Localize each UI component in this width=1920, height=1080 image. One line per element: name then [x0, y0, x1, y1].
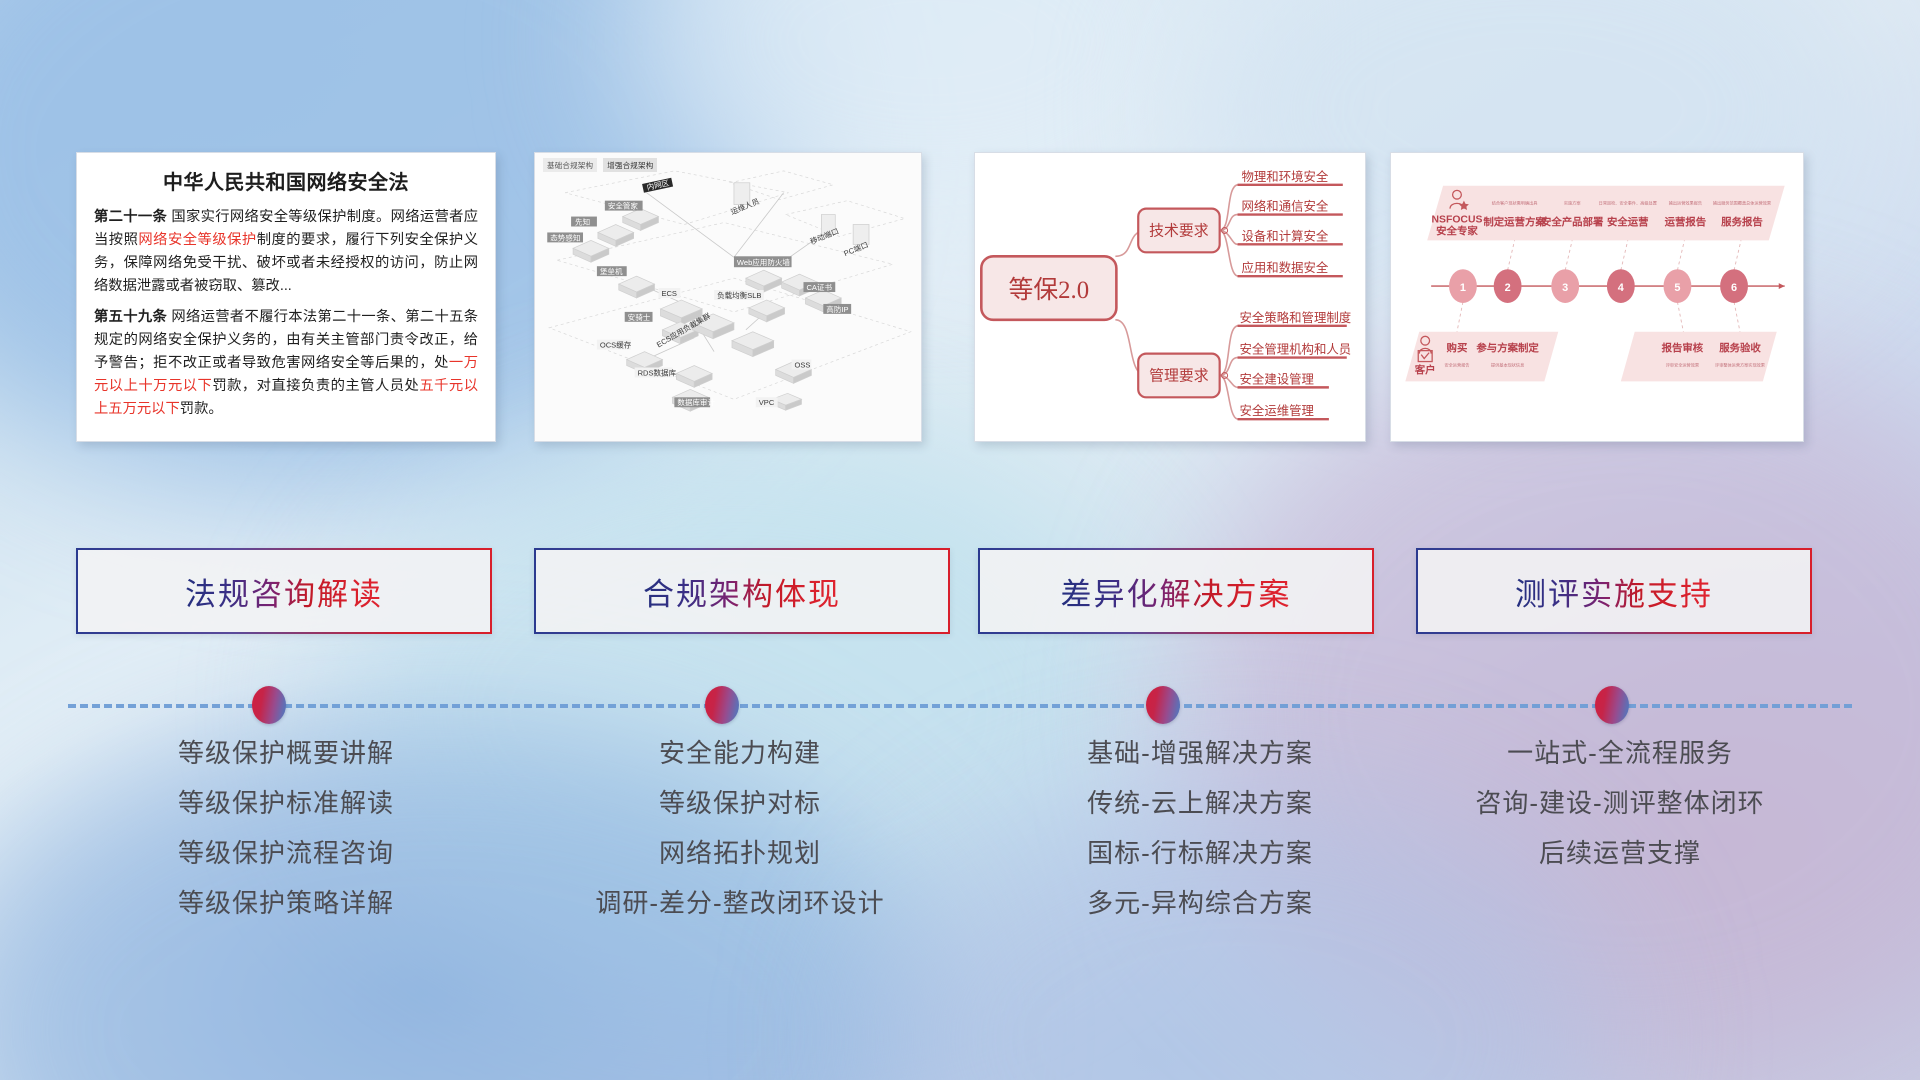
headline-box-2[interactable]: 合规架构体现 — [534, 548, 950, 634]
headline-box-4[interactable]: 测评实施支持 — [1416, 548, 1812, 634]
detail-column-4: 一站式-全流程服务 咨询-建设-测评整体闭环 后续运营支撑 — [1410, 740, 1830, 890]
list-item: 等级保护流程咨询 — [76, 840, 496, 866]
detail-column-2: 安全能力构建 等级保护对标 网络拓扑规划 调研-差分-整改闭环设计 — [520, 740, 960, 940]
list-item: 等级保护标准解读 — [76, 790, 496, 816]
headline-label: 合规架构体现 — [643, 569, 841, 614]
detail-lists: 等级保护概要讲解 等级保护标准解读 等级保护流程咨询 等级保护策略详解 安全能力… — [0, 740, 1920, 1040]
timeline-dot-4[interactable] — [1595, 686, 1629, 724]
headline-label: 差异化解决方案 — [1061, 569, 1292, 614]
list-item: 等级保护策略详解 — [76, 890, 496, 916]
list-item: 等级保护对标 — [520, 790, 960, 816]
headline-label: 测评实施支持 — [1515, 569, 1713, 614]
detail-column-1: 等级保护概要讲解 等级保护标准解读 等级保护流程咨询 等级保护策略详解 — [76, 740, 496, 940]
detail-column-3: 基础-增强解决方案 传统-云上解决方案 国标-行标解决方案 多元-异构综合方案 — [990, 740, 1410, 940]
list-item: 一站式-全流程服务 — [1410, 740, 1830, 766]
list-item: 等级保护概要讲解 — [76, 740, 496, 766]
list-item: 传统-云上解决方案 — [990, 790, 1410, 816]
timeline-dot-1[interactable] — [252, 686, 286, 724]
list-item: 基础-增强解决方案 — [990, 740, 1410, 766]
list-item: 后续运营支撑 — [1410, 840, 1830, 866]
headline-box-3[interactable]: 差异化解决方案 — [978, 548, 1374, 634]
headline-label: 法规咨询解读 — [185, 569, 383, 614]
headline-box-1[interactable]: 法规咨询解读 — [76, 548, 492, 634]
list-item: 安全能力构建 — [520, 740, 960, 766]
timeline — [0, 686, 1920, 726]
list-item: 国标-行标解决方案 — [990, 840, 1410, 866]
list-item: 多元-异构综合方案 — [990, 890, 1410, 916]
timeline-dashed-line — [68, 704, 1852, 708]
list-item: 调研-差分-整改闭环设计 — [520, 890, 960, 916]
list-item: 网络拓扑规划 — [520, 840, 960, 866]
timeline-dot-3[interactable] — [1146, 686, 1180, 724]
list-item: 咨询-建设-测评整体闭环 — [1410, 790, 1830, 816]
timeline-dot-2[interactable] — [705, 686, 739, 724]
